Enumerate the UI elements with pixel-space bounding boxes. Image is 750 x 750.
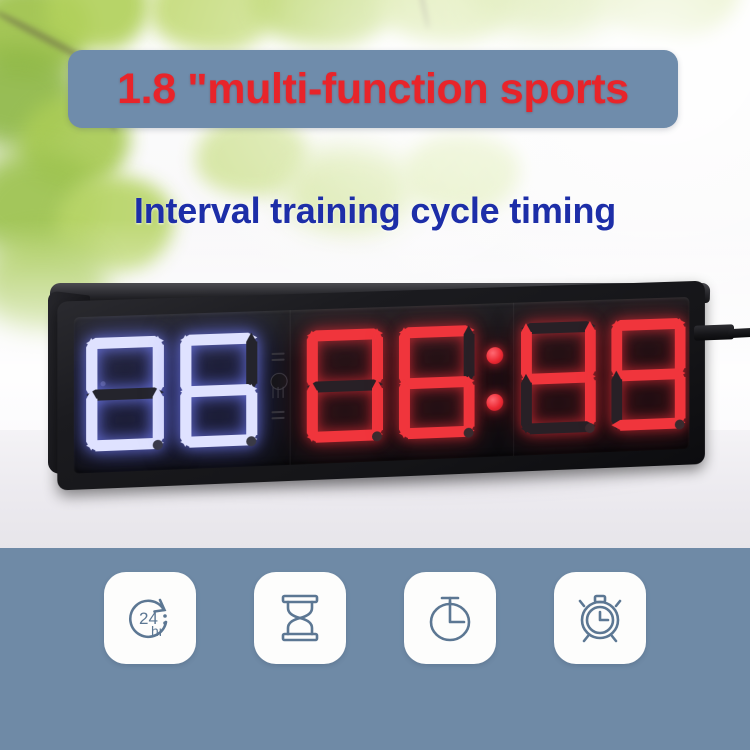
hourglass-icon	[270, 588, 330, 648]
feature-tile-alarm-clock[interactable]	[554, 572, 646, 664]
red-digit-3	[516, 318, 593, 438]
red-digit-1	[302, 325, 380, 446]
blue-digit-2	[175, 329, 254, 451]
feature-tile-hourglass[interactable]	[254, 572, 346, 664]
led-timer-device	[22, 283, 712, 483]
headline-text: 1.8 "multi-function sports	[117, 65, 629, 114]
display-sensor-icon	[264, 328, 291, 448]
24hr-clock-icon: 24 hr	[120, 588, 180, 648]
stopwatch-icon	[420, 588, 480, 648]
subtitle-text: Interval training cycle timing	[0, 190, 750, 232]
feature-tile-24hr[interactable]: 24 hr	[104, 572, 196, 664]
svg-text:hr: hr	[151, 623, 164, 639]
feature-panel: 24 hr	[0, 548, 750, 750]
product-marketing-image: 1.8 "multi-function sports Interval trai…	[0, 0, 750, 750]
power-cable-wire	[728, 327, 750, 338]
alarm-clock-icon	[570, 588, 630, 648]
led-display-screen	[74, 297, 690, 474]
feature-tile-stopwatch[interactable]	[404, 572, 496, 664]
colon-separator	[482, 321, 505, 439]
headline-banner: 1.8 "multi-function sports	[68, 50, 678, 128]
digit-row	[74, 297, 690, 474]
foliage-leaf	[600, 0, 740, 36]
red-digit-4	[607, 315, 683, 434]
device-case-front	[57, 281, 705, 491]
red-digit-2	[394, 322, 471, 443]
feature-icon-row: 24 hr	[0, 572, 750, 664]
blue-digit-1	[81, 333, 161, 455]
